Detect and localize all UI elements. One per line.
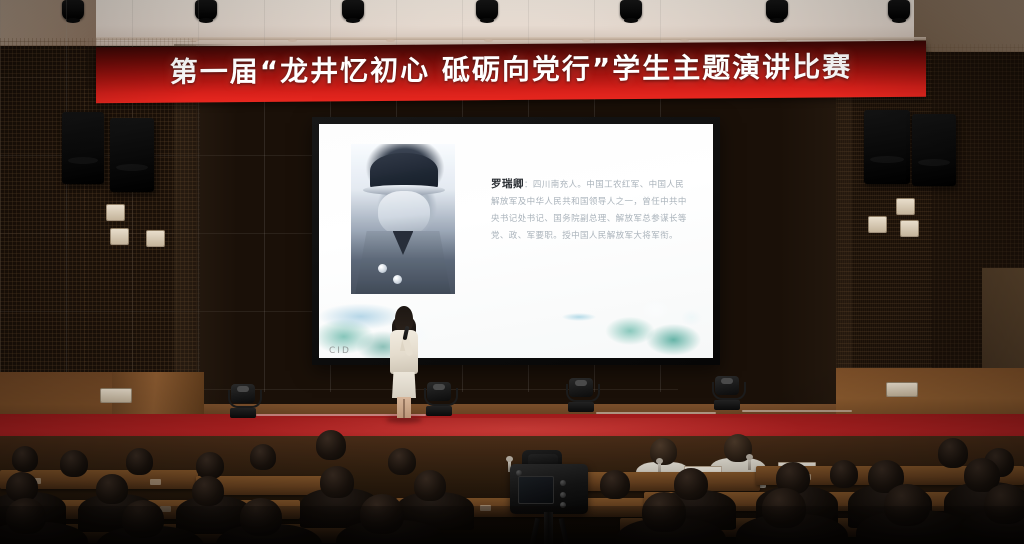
slide-separator: ： — [524, 180, 533, 190]
moving-head-light-icon — [228, 384, 258, 418]
audience-head — [600, 470, 630, 499]
slide-watermark: CID — [329, 346, 351, 356]
downlight-icon — [680, 39, 689, 42]
projection-screen: 罗瑞卿：四川南充人。中国工农红军、中国人民解放军及中华人民共和国领导人之一，曾任… — [319, 124, 713, 358]
slide-body-line-4: 军要职。授中国人民解放军大将军衔。 — [527, 231, 678, 241]
moving-head-light-icon — [424, 382, 454, 416]
slide-portrait-photo — [351, 144, 455, 294]
banner-title: 第一届“龙井忆初心 砥砺向党行”学生主题演讲比赛 — [170, 45, 853, 90]
presenter — [384, 306, 424, 422]
camera-button[interactable] — [516, 470, 522, 476]
foreground-shadow — [0, 506, 1024, 544]
event-banner: 第一届“龙井忆初心 砥砺向党行”学生主题演讲比赛 — [96, 41, 926, 104]
camera-lcd-screen — [518, 476, 554, 504]
audience-head — [60, 450, 88, 477]
audience-head — [320, 466, 354, 498]
audience-head — [196, 452, 224, 479]
microphone-icon — [748, 458, 751, 470]
audience-head — [938, 438, 968, 468]
audience-head — [316, 430, 346, 460]
wall-outlet-icon[interactable] — [868, 216, 887, 233]
moving-head-light-icon — [566, 378, 596, 412]
spotlight-icon — [766, 0, 788, 20]
loudspeaker-icon — [912, 114, 956, 186]
audience-head — [830, 460, 858, 488]
slide-biography-text: 罗瑞卿：四川南充人。中国工农红军、中国人民解放军及中华人民共和国领导人之一，曾任… — [491, 176, 687, 245]
audience-head — [250, 444, 276, 470]
portrait-face — [378, 191, 430, 236]
portrait-medal — [378, 264, 387, 273]
camera-button[interactable] — [560, 492, 566, 498]
wall-outlet-icon[interactable] — [106, 204, 125, 221]
presenter-skirt — [392, 372, 416, 398]
stage-cable — [742, 410, 852, 412]
moving-head-light-icon — [712, 376, 742, 410]
seat-number-label — [150, 479, 161, 485]
slide-subject-name: 罗瑞卿 — [491, 178, 524, 190]
wall-panel-label-right — [886, 382, 918, 397]
audience-head — [12, 446, 38, 472]
stage-cable — [596, 412, 716, 414]
wall-outlet-icon[interactable] — [896, 198, 915, 215]
slide-body-line-0: 四川南充人。中国工农红军、 — [533, 180, 649, 190]
loudspeaker-icon — [110, 118, 154, 192]
audience-head — [414, 470, 446, 501]
projection-screen-frame: 罗瑞卿：四川南充人。中国工农红军、中国人民解放军及中华人民共和国领导人之一，曾任… — [312, 117, 720, 365]
portrait-medal — [393, 275, 402, 284]
audience-head — [96, 474, 128, 504]
spotlight-icon — [888, 0, 910, 20]
lotus-decoration-right — [589, 288, 713, 358]
wall-panel-label-left — [100, 388, 132, 403]
audience-head — [674, 468, 708, 500]
loudspeaker-icon — [864, 110, 910, 184]
audience-head — [192, 476, 224, 506]
audience-head — [388, 448, 416, 475]
loudspeaker-icon — [62, 112, 104, 184]
auditorium-photo: 第一届“龙井忆初心 砥砺向党行”学生主题演讲比赛 罗瑞卿：四川南充人。中国工农红… — [0, 0, 1024, 544]
wall-outlet-icon[interactable] — [146, 230, 165, 247]
audience-head — [126, 448, 153, 475]
presenter-leg-gap — [403, 399, 405, 418]
wall-outlet-icon[interactable] — [110, 228, 129, 245]
front-row-attendee-head — [650, 438, 677, 465]
camera-button[interactable] — [560, 480, 566, 486]
wall-outlet-icon[interactable] — [900, 220, 919, 237]
acoustic-panel-left-outer — [0, 38, 86, 374]
